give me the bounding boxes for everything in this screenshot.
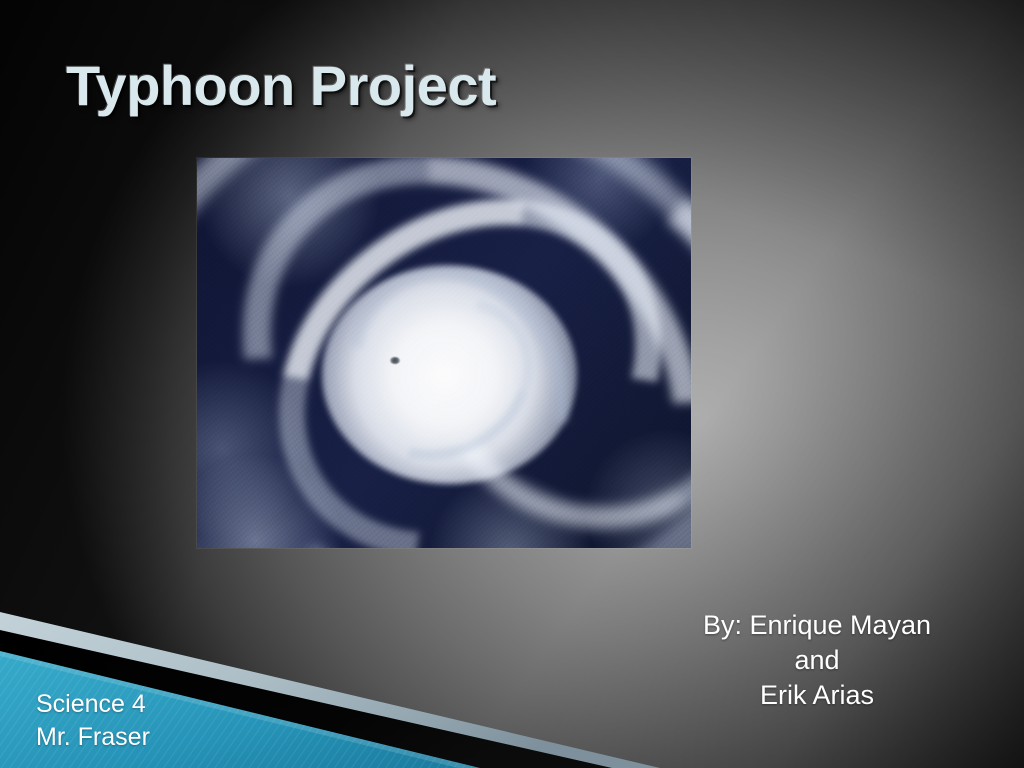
typhoon-satellite-image — [197, 158, 691, 548]
footer-teacher-line: Mr. Fraser — [36, 721, 150, 754]
footer-caption-block: Science 4 Mr. Fraser — [36, 688, 150, 755]
page-title: Typhoon Project — [66, 54, 946, 118]
slide-canvas: Typhoon Project By: Enrique Mayan and Er… — [0, 0, 1024, 768]
byline-authors-line: By: Enrique Mayan — [644, 608, 990, 643]
byline-block: By: Enrique Mayan and Erik Arias — [644, 608, 990, 713]
byline-conjunction-line: and — [644, 643, 990, 678]
footer-course-line: Science 4 — [36, 688, 150, 721]
image-grain-overlay — [197, 158, 691, 548]
byline-second-author-line: Erik Arias — [644, 678, 990, 713]
